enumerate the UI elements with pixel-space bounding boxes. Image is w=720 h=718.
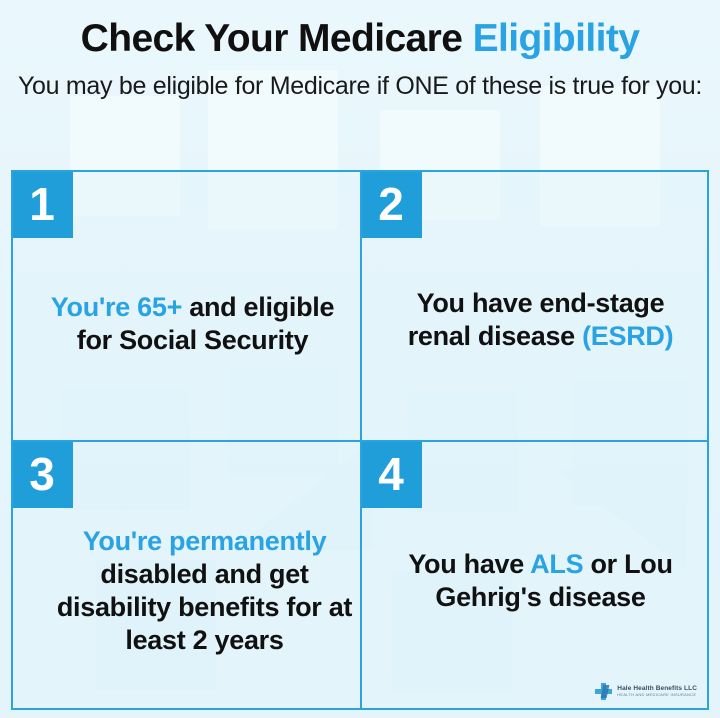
eligibility-grid: 1 You're 65+ and eligible for Social Sec… [11,170,709,710]
cell-text-3-rest: disabled and get disability benefits for… [57,559,352,655]
cell-number-badge-2: 2 [360,172,422,238]
logo-text: Hale Health Benefits LLC HEALTH AND MEDI… [617,686,697,697]
cell-text-4-accent-tail: ALS [530,549,583,579]
cell-text-4: You have ALS or Lou Gehrig's disease [396,548,686,614]
cell-number-badge-3: 3 [13,440,73,508]
cell-text-1-accent-lead: You're 65+ [51,292,182,322]
cell-text-3-accent-lead: You're permanently [83,526,327,556]
logo-tagline: HEALTH AND MEDICARE INSURANCE [617,693,697,697]
cell-number-badge-4: 4 [360,440,422,508]
eligibility-cell-3: 3 You're permanently disabled and get di… [13,440,360,708]
page-subtitle: You may be eligible for Medicare if ONE … [0,60,720,102]
title-plain: Check Your Medicare [81,17,473,60]
cell-text-3: You're permanently disabled and get disa… [55,525,355,657]
eligibility-cell-4: 4 You have ALS or Lou Gehrig's disease H… [360,440,707,708]
cell-text-4-rest: You have [408,549,530,579]
eligibility-cell-2: 2 You have end-stage renal disease (ESRD… [360,172,707,440]
company-logo: Hale Health Benefits LLC HEALTH AND MEDI… [595,683,697,700]
medical-cross-icon [595,683,612,700]
eligibility-cell-1: 1 You're 65+ and eligible for Social Sec… [13,172,360,440]
title-accent: Eligibility [473,17,640,60]
cell-text-1: You're 65+ and eligible for Social Secur… [48,291,338,357]
infographic-poster: Check Your Medicare Eligibility You may … [0,0,720,718]
cell-text-2: You have end-stage renal disease (ESRD) [396,287,686,353]
poster-header: Check Your Medicare Eligibility You may … [0,0,720,102]
cell-text-2-accent-tail: (ESRD) [582,321,673,351]
cell-number-badge-1: 1 [13,172,73,238]
page-title: Check Your Medicare Eligibility [0,0,720,60]
